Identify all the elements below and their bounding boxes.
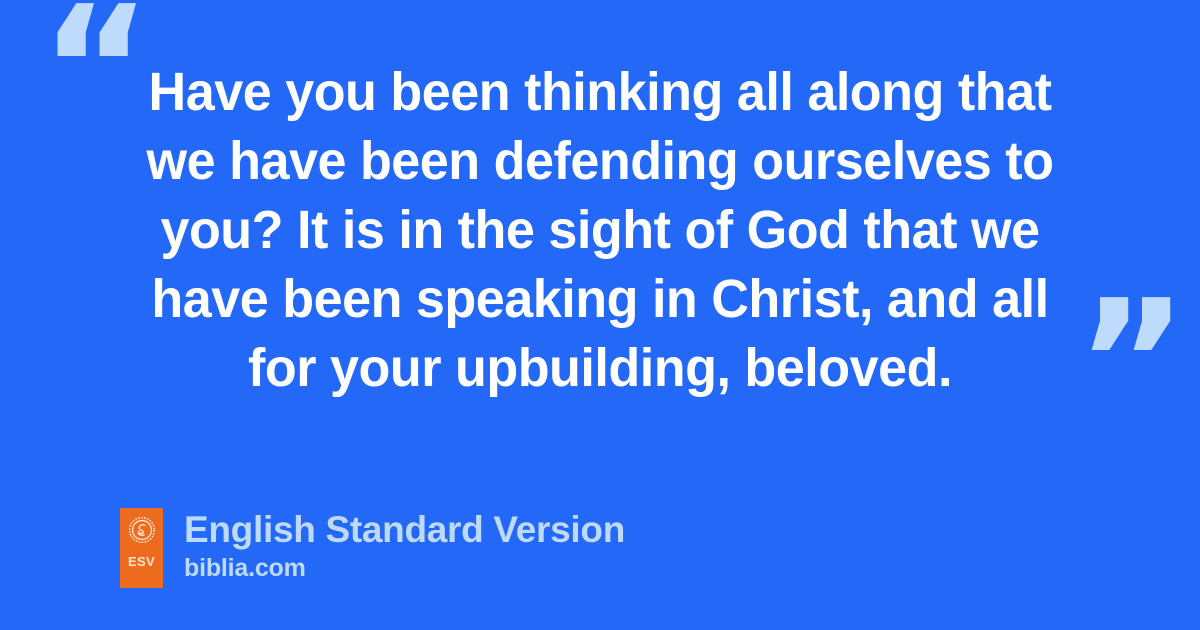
attribution-text-group: English Standard Version biblia.com xyxy=(184,508,625,583)
esv-seal-icon xyxy=(129,517,155,543)
esv-logo[interactable]: ESV xyxy=(120,508,163,588)
closing-quote-icon: ” xyxy=(1076,278,1186,448)
verse-container: Have you been thinking all along that we… xyxy=(60,58,1140,403)
attribution-footer: ESV English Standard Version biblia.com xyxy=(120,508,625,588)
verse-text: Have you been thinking all along that we… xyxy=(79,58,1121,403)
site-name-link[interactable]: biblia.com xyxy=(184,553,625,583)
esv-abbreviation-label: ESV xyxy=(128,555,155,568)
bible-version-name: English Standard Version xyxy=(184,509,625,551)
bible-verse-card: “ Have you been thinking all along that … xyxy=(0,0,1200,630)
